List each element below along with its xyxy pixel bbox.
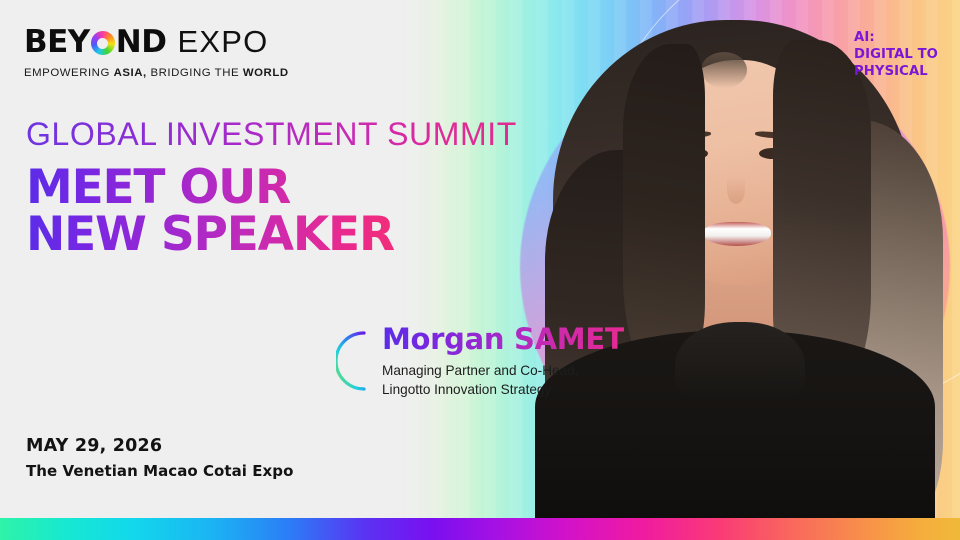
portrait-collar <box>675 322 805 400</box>
theme-tag-line1: AI: <box>854 30 938 47</box>
speaker-role-line-1: Managing Partner and Co-Head, <box>382 362 624 381</box>
speaker-text-block: Morgan SAMET Managing Partner and Co-Hea… <box>382 322 624 400</box>
logo-row: BEYND EXPO <box>24 24 289 60</box>
speaker-name: Morgan SAMET <box>382 322 624 356</box>
event-date: MAY 29, 2026 <box>26 436 293 456</box>
logo-expo-text: EXPO <box>177 24 268 60</box>
rainbow-gradient-bar <box>0 518 960 540</box>
beyond-expo-logo: BEYND EXPO EMPOWERING ASIA, BRIDGING THE… <box>24 24 289 79</box>
rainbow-ring-icon <box>91 31 115 55</box>
logo-text-bey: BEY <box>24 24 90 60</box>
logo-text-nd: ND <box>116 24 167 60</box>
portrait-nose <box>727 176 745 204</box>
promo-poster: BEYND EXPO EMPOWERING ASIA, BRIDGING THE… <box>0 0 960 540</box>
logo-tagline: EMPOWERING ASIA, BRIDGING THE WORLD <box>24 67 289 79</box>
tagline-bold-world: WORLD <box>243 67 289 79</box>
headline-line-2: NEW SPEAKER <box>26 212 394 259</box>
portrait-mouth <box>703 222 771 246</box>
speaker-role: Managing Partner and Co-Head, Lingotto I… <box>382 362 624 400</box>
portrait-hair-part <box>701 52 747 88</box>
gradient-arc-icon <box>336 328 370 394</box>
tagline-bold-asia: ASIA, <box>114 67 147 79</box>
tagline-part2: BRIDGING THE <box>147 67 243 79</box>
logo-wordmark: BEYND <box>24 24 166 60</box>
theme-tag-line3: PHYSICAL <box>854 64 938 81</box>
summit-kicker: GLOBAL INVESTMENT SUMMIT <box>26 116 517 153</box>
portrait-hair-front-left <box>623 44 705 374</box>
speaker-card: Morgan SAMET Managing Partner and Co-Hea… <box>336 322 624 400</box>
event-info: MAY 29, 2026 The Venetian Macao Cotai Ex… <box>26 436 293 480</box>
event-venue: The Venetian Macao Cotai Expo <box>26 462 293 480</box>
tagline-part1: EMPOWERING <box>24 67 114 79</box>
speaker-role-line-2: Lingotto Innovation Strategy <box>382 381 624 400</box>
theme-tag-line2: DIGITAL TO <box>854 47 938 64</box>
main-headline: MEET OUR NEW SPEAKER <box>26 165 394 258</box>
theme-tag: AI: DIGITAL TO PHYSICAL <box>854 30 938 81</box>
